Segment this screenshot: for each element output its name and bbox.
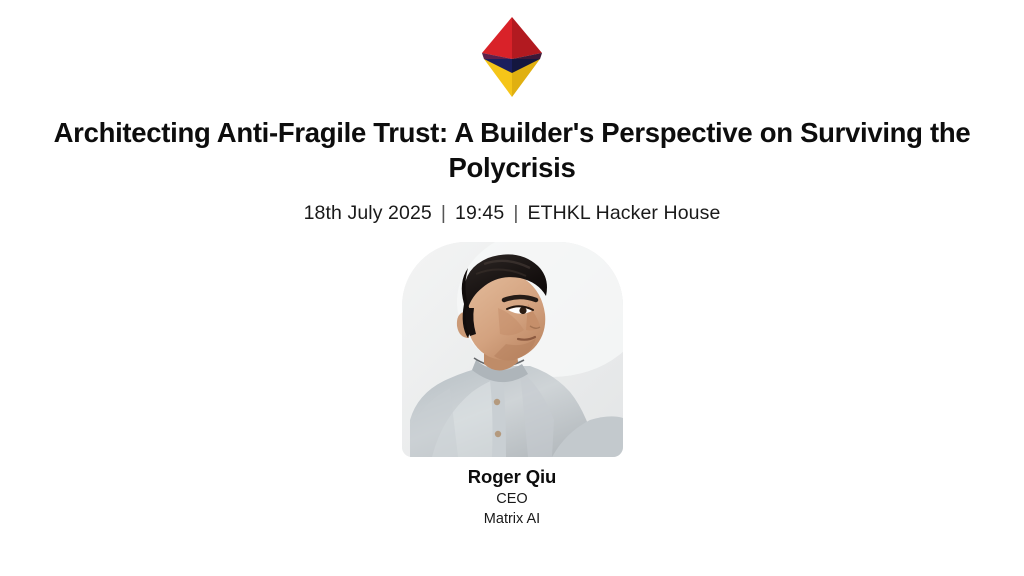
ethereum-diamond-icon (464, 13, 560, 99)
event-slide: Architecting Anti-Fragile Trust: A Build… (0, 0, 1024, 576)
speaker-photo (402, 242, 623, 457)
event-venue: ETHKL Hacker House (528, 202, 721, 225)
speaker-name: Roger Qiu (468, 466, 557, 488)
event-date: 18th July 2025 (304, 202, 432, 225)
event-meta: 18th July 2025 | 19:45 | ETHKL Hacker Ho… (304, 202, 721, 225)
speaker-role: CEO (496, 491, 527, 507)
speaker-organization: Matrix AI (484, 511, 540, 527)
meta-separator-1: | (432, 202, 455, 225)
slide-title: Architecting Anti-Fragile Trust: A Build… (32, 116, 992, 185)
speaker-block: Roger Qiu CEO Matrix AI (402, 242, 623, 527)
event-time: 19:45 (455, 202, 504, 225)
meta-separator-2: | (504, 202, 527, 225)
